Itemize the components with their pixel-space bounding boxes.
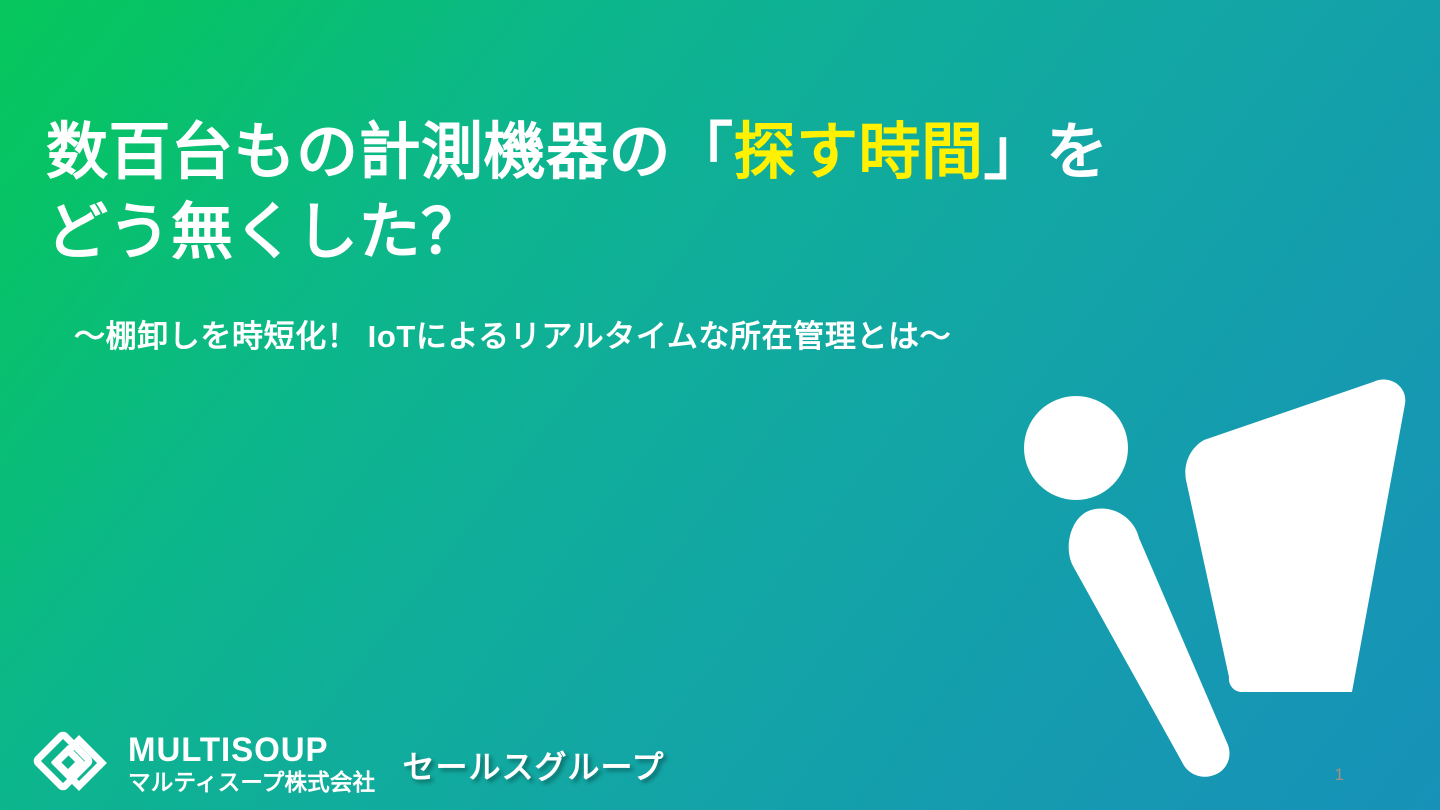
- brand-mark-wing-icon: [1185, 379, 1405, 692]
- slide-canvas: 数百台もの計測機器の「探す時間」を どう無くした？ 〜棚卸しを時短化！ IoTに…: [0, 0, 1440, 810]
- title-line-2: どう無くした？: [46, 193, 1336, 273]
- brand-mark-head-icon: [1024, 396, 1128, 500]
- brand-mark-arm-icon: [1069, 509, 1230, 777]
- title-accent-text: 探す時間: [734, 118, 984, 187]
- logo-wordmark: MULTISOUP マルティスープ株式会社: [128, 733, 380, 794]
- multisoup-interlocking-diamonds-icon: [30, 728, 114, 798]
- brand-mark-graphic: [1000, 370, 1440, 780]
- title-line-1-lead: 数百台もの計測機器の「: [46, 118, 734, 187]
- title-block: 数百台もの計測機器の「探す時間」を どう無くした？: [46, 113, 1336, 273]
- page-number: 1: [1335, 766, 1344, 783]
- brand-mark-secondary-blade-icon: [1279, 427, 1369, 688]
- company-logo: MULTISOUP マルティスープ株式会社: [30, 728, 380, 798]
- logo-kana-text: マルティスープ株式会社: [128, 771, 375, 794]
- footer: MULTISOUP マルティスープ株式会社 セールスグループ: [30, 728, 665, 798]
- title-line-1-tail: 」を: [984, 118, 1109, 187]
- title-line-1: 数百台もの計測機器の「探す時間」を: [46, 113, 1336, 193]
- department-label: セールスグループ: [402, 742, 664, 798]
- logo-latin-text: MULTISOUP: [128, 733, 373, 767]
- subtitle: 〜棚卸しを時短化！ IoTによるリアルタイムな所在管理とは〜: [74, 315, 951, 359]
